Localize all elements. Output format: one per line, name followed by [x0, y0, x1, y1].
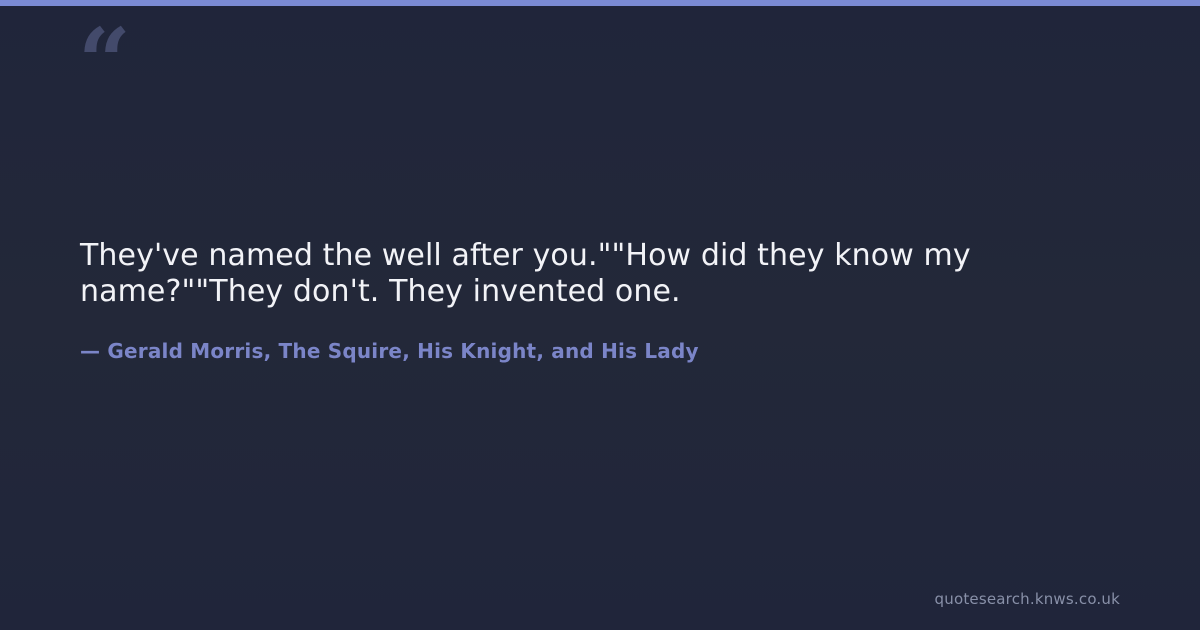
attribution-dash: —	[80, 339, 100, 363]
quote-attribution: — Gerald Morris, The Squire, His Knight,…	[80, 310, 1120, 364]
quote-card: “ They've named the well after you.""How…	[0, 0, 1200, 630]
site-watermark: quotesearch.knws.co.uk	[935, 590, 1120, 608]
attribution-author-work: Gerald Morris, The Squire, His Knight, a…	[107, 339, 698, 363]
quote-text: They've named the well after you.""How d…	[80, 238, 1040, 310]
top-accent-bar	[0, 0, 1200, 6]
quote-content: They've named the well after you.""How d…	[80, 238, 1120, 364]
quotation-mark-icon: “	[78, 16, 131, 108]
